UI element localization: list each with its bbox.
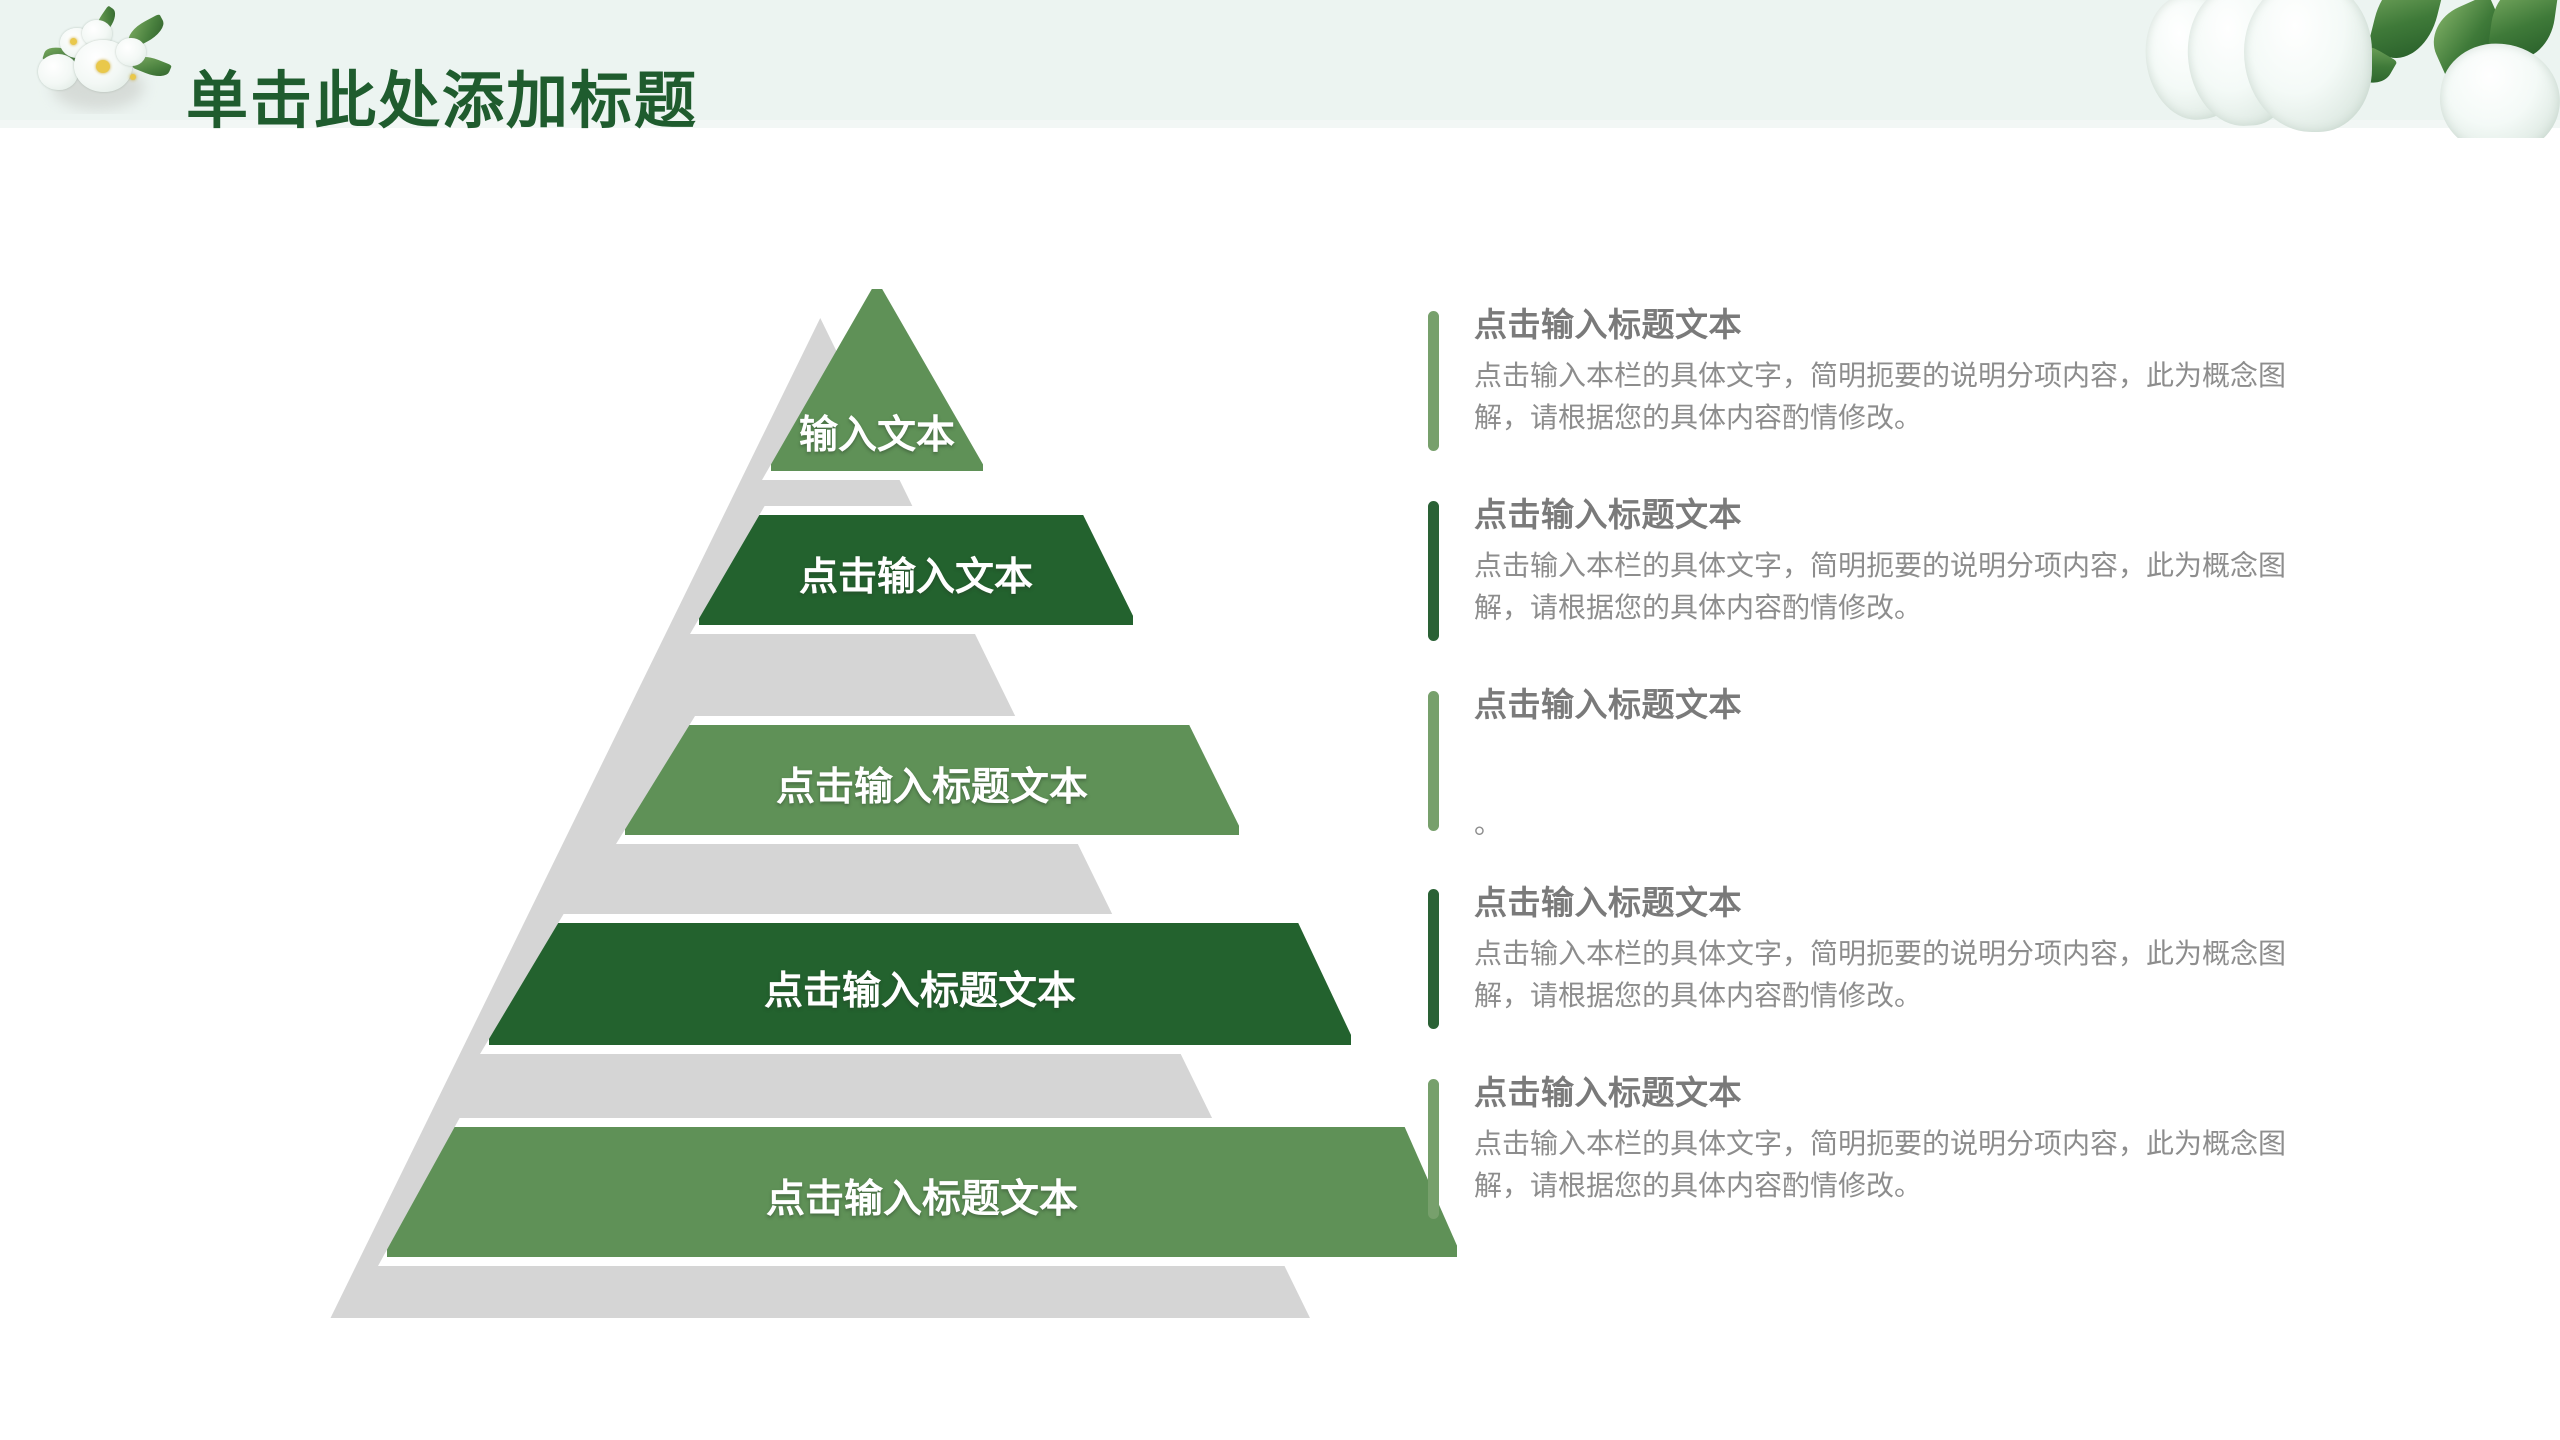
accent-bar <box>1428 691 1439 831</box>
list-item-title: 点击输入标题文本 <box>1474 305 2408 345</box>
pyramid-level-1-shape <box>762 280 992 480</box>
list-item-body: 。 <box>1474 803 2314 845</box>
description-list: 点击输入标题文本 点击输入本栏的具体文字，简明扼要的说明分项内容，此为概念图解，… <box>1428 305 2408 1263</box>
pyramid-level-5[interactable]: 点击输入标题文本 <box>378 1118 1466 1266</box>
list-item-body: 点击输入本栏的具体文字，简明扼要的说明分项内容，此为概念图解，请根据您的具体内容… <box>1474 545 2314 629</box>
pyramid-level-2-shape <box>690 506 1142 634</box>
pyramid-level-3[interactable]: 点击输入标题文本 <box>616 716 1248 844</box>
list-item[interactable]: 点击输入标题文本 点击输入本栏的具体文字，简明扼要的说明分项内容，此为概念图解，… <box>1428 883 2408 1035</box>
list-item[interactable]: 点击输入标题文本 点击输入本栏的具体文字，简明扼要的说明分项内容，此为概念图解，… <box>1428 495 2408 647</box>
list-item[interactable]: 点击输入标题文本 点击输入本栏的具体文字，简明扼要的说明分项内容，此为概念图解，… <box>1428 1073 2408 1225</box>
list-item-title: 点击输入标题文本 <box>1474 883 2408 923</box>
accent-bar <box>1428 889 1439 1029</box>
pyramid-level-1[interactable]: 输入文本 <box>762 280 992 480</box>
white-magnolia-flower-icon <box>2140 0 2560 138</box>
page-title: 单击此处添加标题 <box>186 68 698 136</box>
pyramid-level-4-shape <box>480 914 1360 1054</box>
list-item-body: 点击输入本栏的具体文字，简明扼要的说明分项内容，此为概念图解，请根据您的具体内容… <box>1474 355 2314 439</box>
list-item-body: 点击输入本栏的具体文字，简明扼要的说明分项内容，此为概念图解，请根据您的具体内容… <box>1474 1123 2314 1207</box>
list-item-title: 点击输入标题文本 <box>1474 1073 2408 1113</box>
list-item-body: 点击输入本栏的具体文字，简明扼要的说明分项内容，此为概念图解，请根据您的具体内容… <box>1474 933 2314 1017</box>
accent-bar <box>1428 1079 1439 1219</box>
list-item[interactable]: 点击输入标题文本 点击输入本栏的具体文字，简明扼要的说明分项内容，此为概念图解，… <box>1428 305 2408 457</box>
white-rose-cluster-icon <box>30 2 180 114</box>
pyramid-level-2[interactable]: 点击输入文本 <box>690 506 1142 634</box>
accent-bar <box>1428 311 1439 451</box>
list-item-title: 点击输入标题文本 <box>1474 685 2408 725</box>
pyramid-level-5-shape <box>378 1118 1466 1266</box>
pyramid-diagram: 输入文本 点击输入文本 点击输入标题文本 点击输入标题文本 点击输入标题文本 <box>150 280 1330 1330</box>
accent-bar <box>1428 501 1439 641</box>
pyramid-level-3-shape <box>616 716 1248 844</box>
list-item-title: 点击输入标题文本 <box>1474 495 2408 535</box>
list-item[interactable]: 点击输入标题文本 。 <box>1428 685 2408 845</box>
pyramid-level-4[interactable]: 点击输入标题文本 <box>480 914 1360 1054</box>
